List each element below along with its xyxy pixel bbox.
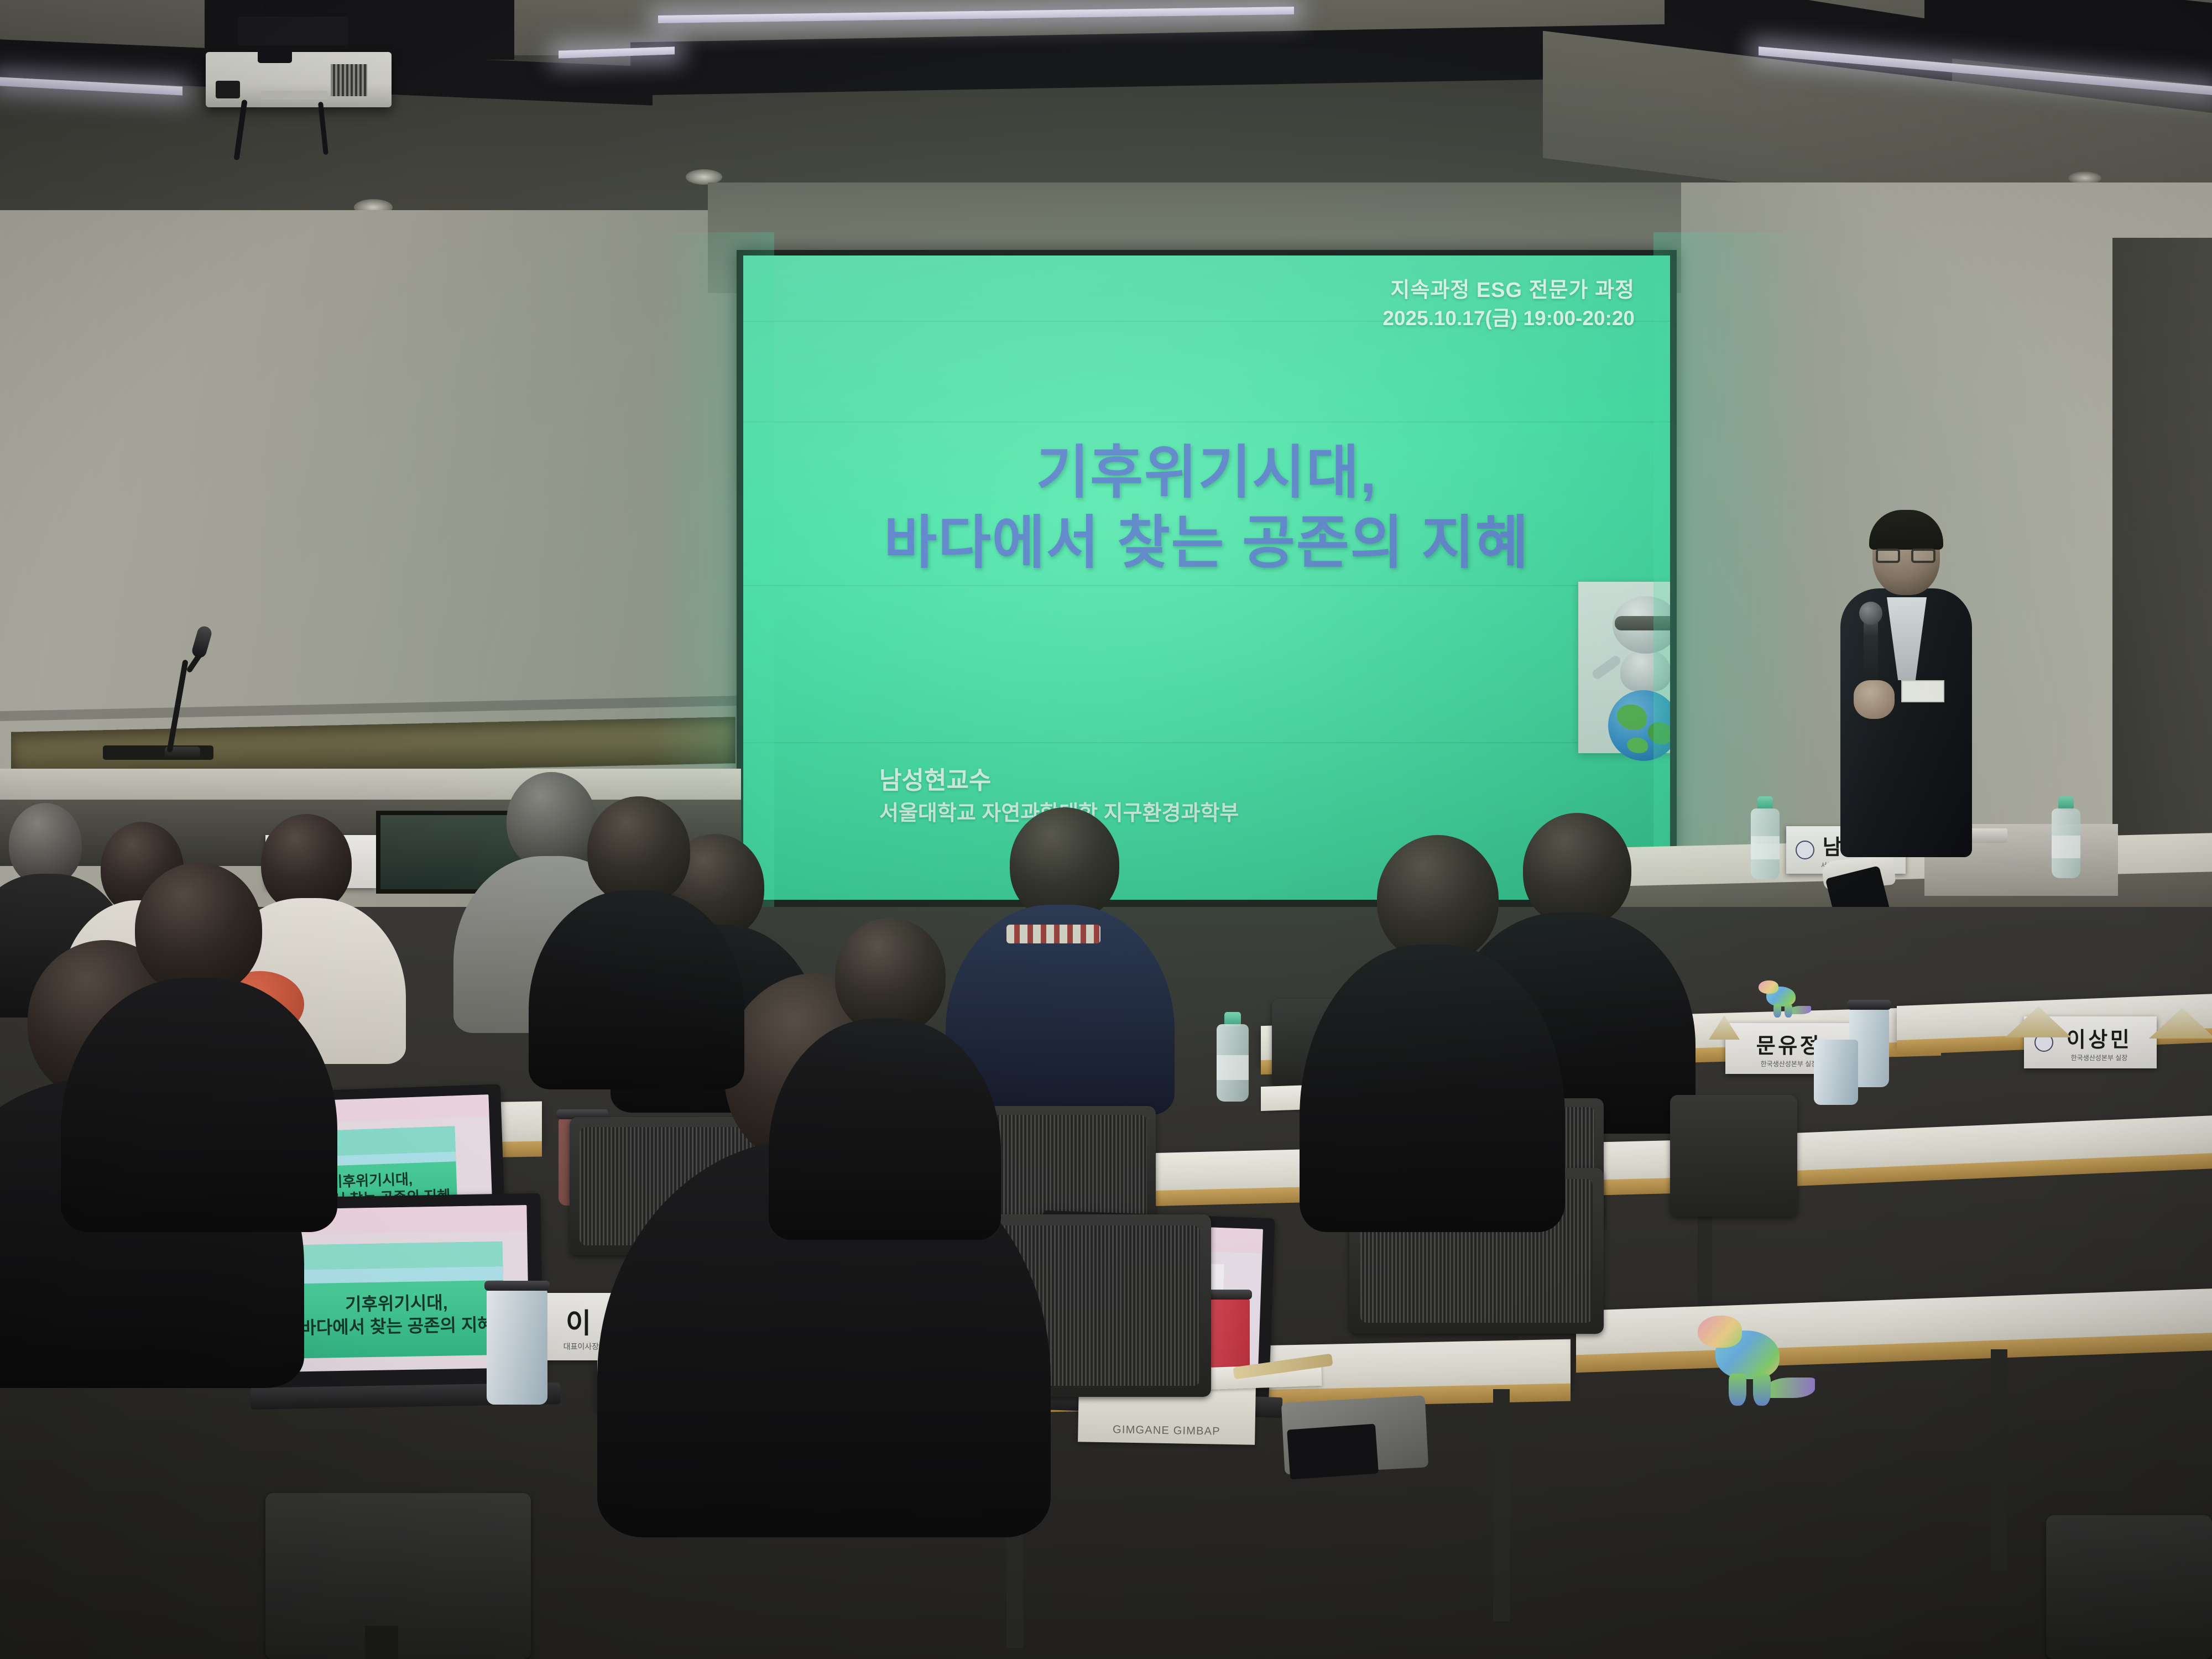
projector xyxy=(206,52,392,107)
wall-right-return xyxy=(2112,238,2212,935)
mascot-body xyxy=(1620,650,1670,691)
water-bottle-podium-right xyxy=(2052,796,2080,878)
presenter-figure xyxy=(1825,514,1980,857)
tumbler-row-b xyxy=(1814,1040,1858,1105)
smartphone xyxy=(1287,1424,1379,1480)
chair-front-5 xyxy=(265,1493,531,1659)
slide-course-title: 지속과정 ESG 전문가 과정 xyxy=(1383,276,1635,305)
eyeglasses-icon xyxy=(1876,549,1936,563)
slide-main-title: 기후위기시대, 바다에서 찾는 공존의 지혜 xyxy=(743,438,1670,578)
desk-leg-row-c-3 xyxy=(1991,1349,2007,1571)
audience-person-12 xyxy=(83,863,315,1217)
presenter-hair xyxy=(1869,510,1943,550)
slide-presenter-name: 남성현교수 xyxy=(879,763,1239,799)
chair-stem-front-5 xyxy=(365,1626,398,1659)
presenter-name-badge xyxy=(1901,680,1944,702)
slide-title-line-1: 기후위기시대, xyxy=(743,438,1670,508)
audience-person-13 xyxy=(785,918,984,1228)
projection-screen: 지속과정 ESG 전문가 과정 2025.10.17(금) 19:00-20:2… xyxy=(743,255,1670,900)
audience-person-11 xyxy=(542,796,730,1084)
dinosaur-figurine-row-c xyxy=(1698,1312,1808,1406)
audience-person-10 xyxy=(1316,835,1548,1222)
presenter-hand xyxy=(1854,680,1895,719)
water-bottle-podium-left xyxy=(1751,796,1780,879)
desk-leg-row-c-2 xyxy=(1493,1389,1510,1621)
steel-tumbler-front xyxy=(487,1288,547,1405)
globe-icon xyxy=(1608,690,1670,761)
mascot-globe-poster xyxy=(1578,582,1670,753)
lecture-hall-photo: 지속과정 ESG 전문가 과정 2025.10.17(금) 19:00-20:2… xyxy=(0,0,2212,1659)
water-bottle-row-b xyxy=(1217,1012,1249,1102)
handheld-microphone xyxy=(1864,615,1878,688)
chair-row-b-3 xyxy=(1670,1095,1797,1217)
microphone-grille-icon xyxy=(1859,602,1882,625)
university-emblem-icon xyxy=(1796,841,1814,859)
mascot-visor xyxy=(1615,616,1670,630)
slide-title-line-2: 바다에서 찾는 공존의 지혜 xyxy=(743,508,1670,578)
scarf-collar xyxy=(1006,925,1100,943)
chair-front-4 xyxy=(2046,1515,2212,1659)
slide-datetime: 2025.10.17(금) 19:00-20:20 xyxy=(1383,305,1635,332)
slide-header: 지속과정 ESG 전문가 과정 2025.10.17(금) 19:00-20:2… xyxy=(1383,276,1635,332)
dinosaur-figurine-row-a xyxy=(1759,979,1808,1018)
